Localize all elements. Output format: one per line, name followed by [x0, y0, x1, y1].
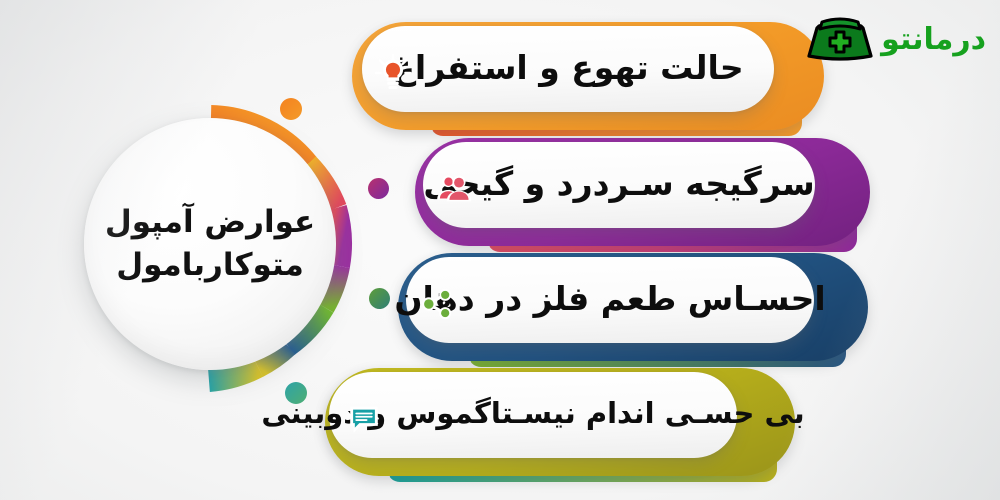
row-1-label: حالت تهوع و استفراغ: [392, 51, 743, 87]
dot-orange: [280, 98, 302, 120]
brand-logo: درمانتو: [805, 12, 986, 68]
row-3-pill[interactable]: احسـاس طعم فلز در دهان: [406, 257, 814, 343]
symptom-row-4[interactable]: بی حسـی اندام نیسـتاگموس و دوبینی: [325, 368, 795, 476]
center-title-line-2: متوکاربامول: [116, 244, 304, 287]
center-ring-group: عوارض آمپول متوکاربامول: [78, 96, 378, 402]
dot-teal: [285, 382, 307, 404]
row-2-label: سرگیجه سـردرد و گیجی: [423, 167, 814, 203]
share-nodes-icon: [414, 281, 460, 327]
row-2-pill[interactable]: سرگیجه سـردرد و گیجی: [423, 142, 815, 228]
chat-bubble-icon: [341, 396, 387, 442]
center-title-circle: عوارض آمپول متوکاربامول: [84, 118, 336, 370]
center-title-line-1: عوارض آمپول: [105, 201, 315, 244]
infographic-canvas: درمانتو: [0, 0, 1000, 500]
dot-magenta: [368, 178, 389, 199]
row-1-pill[interactable]: حالت تهوع و استفراغ: [362, 26, 774, 112]
dot-green: [369, 288, 390, 309]
nurse-cap-icon: [805, 12, 875, 68]
symptom-row-2[interactable]: سرگیجه سـردرد و گیجی: [415, 138, 870, 246]
lightbulb-icon: [370, 50, 416, 96]
row-4-pill[interactable]: بی حسـی اندام نیسـتاگموس و دوبینی: [329, 372, 737, 458]
symptom-row-1[interactable]: حالت تهوع و استفراغ: [352, 22, 824, 130]
users-icon: [431, 166, 477, 212]
brand-name: درمانتو: [881, 25, 986, 55]
symptom-row-3[interactable]: احسـاس طعم فلز در دهان: [398, 253, 868, 361]
